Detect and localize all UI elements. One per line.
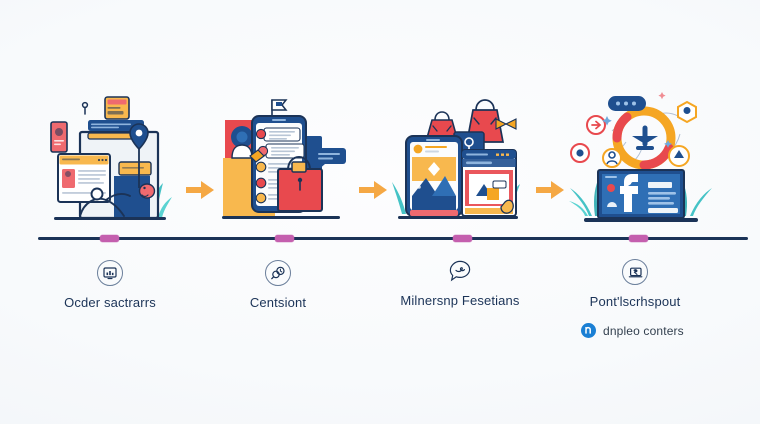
step-label-4: Pont'lscrhspout [590, 294, 681, 309]
illustration-mobile-chat-shopping [220, 92, 350, 228]
speech-bubble-check-icon [448, 259, 472, 283]
timeline-marker-1[interactable] [100, 235, 119, 242]
flow-arrow-1 [184, 178, 216, 202]
step-label-2: Centsiont [250, 295, 306, 310]
plant-decoration-left [569, 180, 598, 216]
step-item-3[interactable]: Milnersnp Fesetians [380, 258, 540, 308]
brand-logo-icon [581, 323, 596, 338]
shopping-bag-small [427, 112, 457, 138]
laptop-cursor-icon [628, 265, 643, 279]
illustration-mobile-ecommerce [392, 92, 528, 228]
step-label-1: Ocder sactrarrs [64, 295, 156, 310]
infographic-canvas: Ocder sactrarrs Centsiont Milnersnp Fese… [0, 0, 760, 424]
step-item-2[interactable]: Centsiont [198, 260, 358, 310]
flow-arrow-2 [357, 178, 389, 202]
illustration-website-dashboard [36, 84, 184, 230]
step-icon-circle-4[interactable] [622, 259, 648, 285]
timeline-marker-2[interactable] [275, 235, 294, 242]
brand-name: dnpleo conters [603, 324, 684, 338]
step-label-3: Milnersnp Fesetians [400, 293, 519, 308]
step-icon-circle-3[interactable] [447, 258, 473, 284]
timeline-marker-4[interactable] [629, 235, 648, 242]
step-item-4[interactable]: Pont'lscrhspout [555, 259, 715, 309]
timeline-line [38, 237, 748, 240]
monitor-chart-icon [103, 266, 117, 280]
plant-decoration-right [683, 182, 712, 216]
search-clock-icon [271, 266, 286, 280]
brand-credit[interactable]: dnpleo conters [581, 323, 684, 338]
timeline-marker-3[interactable] [453, 235, 472, 242]
step-icon-circle-2[interactable] [265, 260, 291, 286]
flow-arrow-3 [534, 178, 566, 202]
illustration-social-media-laptop [566, 76, 716, 230]
step-item-1[interactable]: Ocder sactrarrs [30, 260, 190, 310]
step-icon-circle-1[interactable] [97, 260, 123, 286]
